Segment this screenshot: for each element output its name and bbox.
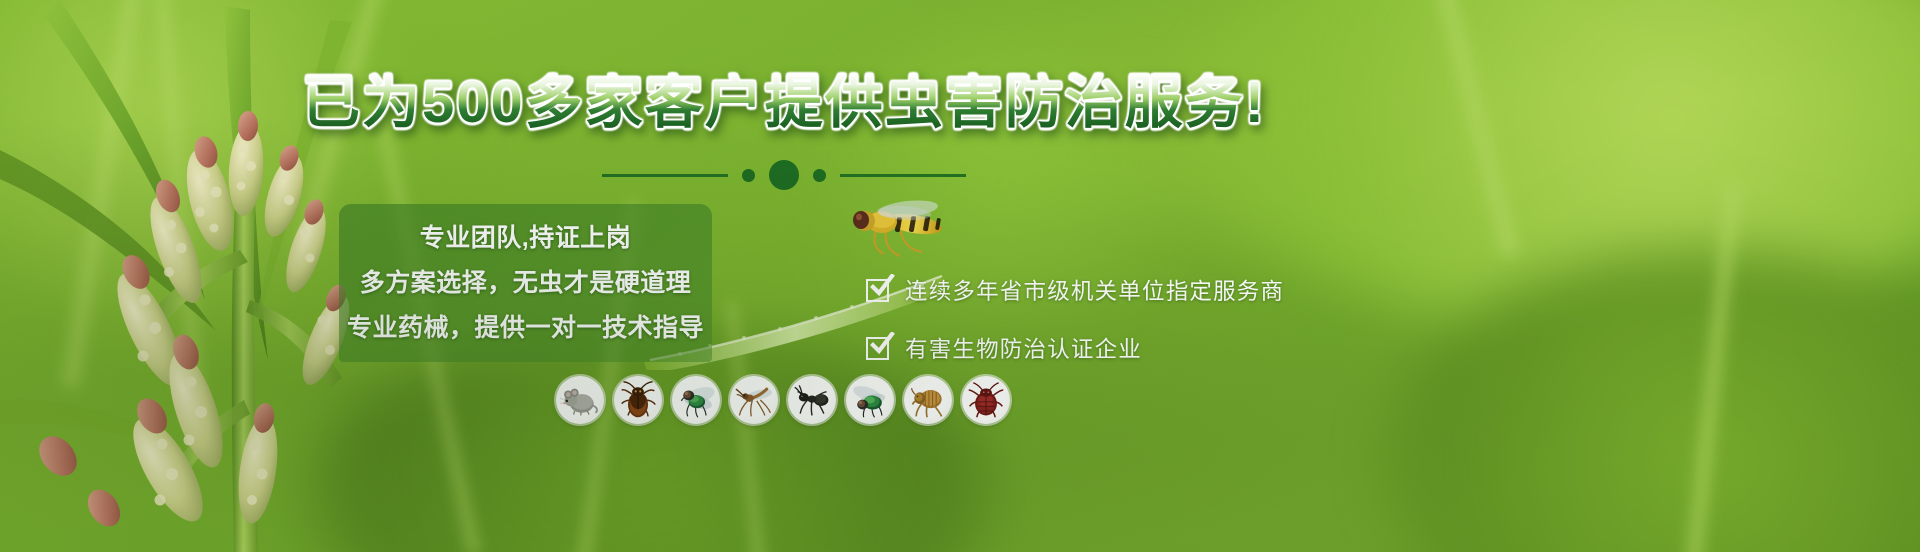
- checkbox-checked-icon: [866, 277, 892, 303]
- fly-icon[interactable]: [672, 376, 720, 424]
- decorative-divider: [0, 160, 1568, 190]
- dot-large-icon: [769, 160, 799, 190]
- pest-type-icons: [556, 376, 1010, 424]
- ant-icon[interactable]: [788, 376, 836, 424]
- features-panel: 专业团队,持证上岗 多方案选择，无虫才是硬道理 专业药械，提供一对一技术指导: [339, 204, 712, 362]
- panel-line-3: 专业药械，提供一对一技术指导: [347, 308, 704, 344]
- panel-line-1: 专业团队,持证上岗: [420, 218, 631, 254]
- pest-control-banner: 已为500多家客户提供虫害防治服务! 专业团队,持证上岗 多方案选择，无虫才是硬…: [0, 0, 1920, 552]
- cockroach-icon[interactable]: [614, 376, 662, 424]
- list-item-label: 有害生物防治认证企业: [905, 332, 1142, 364]
- dot-small-icon: [742, 169, 755, 182]
- blowfly-icon[interactable]: [846, 376, 894, 424]
- banner-headline: 已为500多家客户提供虫害防治服务!: [0, 74, 1568, 132]
- flea-icon[interactable]: [904, 376, 952, 424]
- horizontal-rule-icon: [602, 174, 728, 177]
- checkbox-checked-icon: [866, 335, 892, 361]
- horizontal-rule-icon: [840, 174, 966, 177]
- list-item-label: 连续多年省市级机关单位指定服务商: [905, 274, 1284, 306]
- mosquito-icon[interactable]: [730, 376, 778, 424]
- list-item: 有害生物防治认证企业: [866, 332, 1284, 364]
- bedbug-icon[interactable]: [962, 376, 1010, 424]
- list-item: 连续多年省市级机关单位指定服务商: [866, 274, 1284, 306]
- dot-small-icon: [813, 169, 826, 182]
- mouse-icon[interactable]: [556, 376, 604, 424]
- credentials-list: 连续多年省市级机关单位指定服务商 有害生物防治认证企业: [866, 274, 1284, 364]
- panel-line-2: 多方案选择，无虫才是硬道理: [360, 263, 692, 299]
